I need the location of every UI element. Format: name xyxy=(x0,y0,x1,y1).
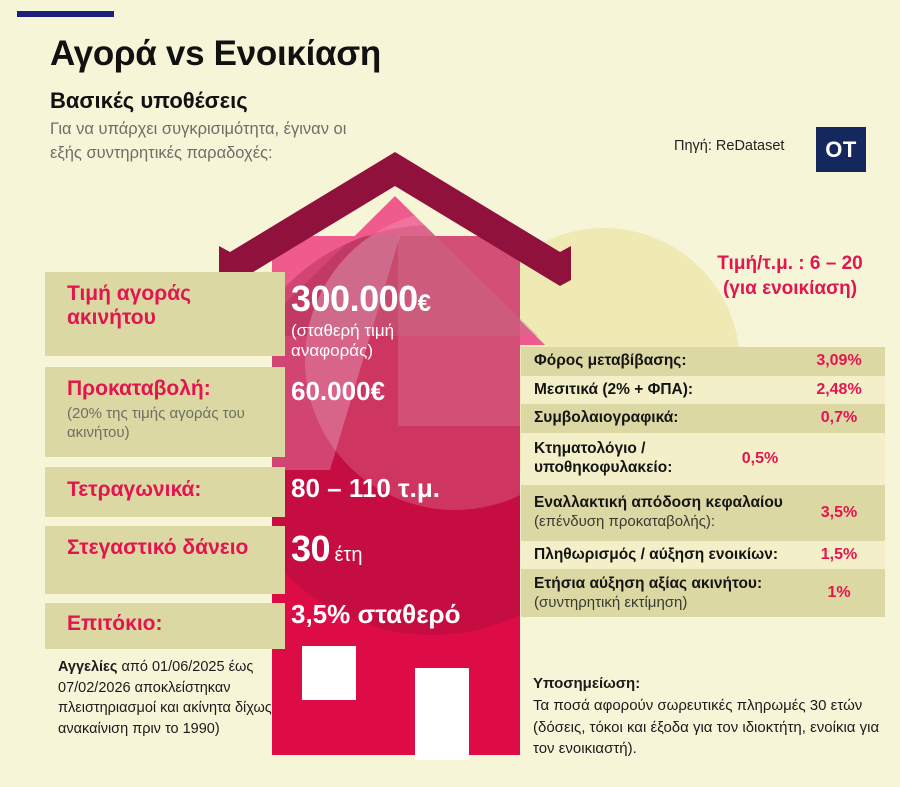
costs-table: Φόρος μεταβίβασης: 3,09% Μεσιτικά (2% + … xyxy=(521,347,885,617)
value-downpayment: 60.000 xyxy=(291,376,371,406)
table-row: Ετήσια αύξηση αξίας ακινήτου: (συντηρητι… xyxy=(521,569,885,617)
cost-value: 1% xyxy=(803,584,875,602)
table-row: Φόρος μεταβίβασης: 3,09% xyxy=(521,347,885,376)
source-label: Πηγή: ReDataset xyxy=(674,138,784,154)
intro-text: Για να υπάρχει συγκρισιμότητα, έγιναν οι… xyxy=(50,118,380,166)
assumption-sublabel: (20% της τιμής αγοράς του ακινήτου) xyxy=(67,404,271,442)
table-row: Εναλλακτική απόδοση κεφαλαίου (επένδυση … xyxy=(521,485,885,541)
cost-label: Κτηματολόγιο / υποθηκοφυλακείο: xyxy=(534,440,724,477)
cost-label-main: Εναλλακτική απόδοση κεφαλαίου xyxy=(534,494,783,511)
cost-label: Φόρος μεταβίβασης: xyxy=(534,352,803,371)
cost-value: 3,5% xyxy=(803,504,875,522)
assumption-label: Τιμή αγοράς ακινήτου xyxy=(67,282,271,330)
assumption-value: 60.000€ xyxy=(291,376,385,407)
cost-label: Συμβολαιογραφικά: xyxy=(534,409,803,428)
cost-value: 3,09% xyxy=(803,352,875,370)
table-row: Συμβολαιογραφικά: 0,7% xyxy=(521,404,885,433)
value-note: (σταθερή τιμή αναφοράς) xyxy=(291,321,436,362)
value-loan-years: 30 xyxy=(291,528,330,569)
assumption-label: Στεγαστικό δάνειο xyxy=(67,536,271,560)
cost-value: 0,5% xyxy=(724,450,796,468)
cost-label: Ετήσια αύξηση αξίας ακινήτου: (συντηρητι… xyxy=(534,575,803,612)
assumption-value: 80 – 110 τ.μ. xyxy=(291,473,440,504)
cost-label-paren: (επένδυση προκαταβολής): xyxy=(534,513,803,531)
cost-value: 2,48% xyxy=(803,381,875,399)
table-row: Πληθωρισμός / αύξηση ενοικίων: 1,5% xyxy=(521,541,885,570)
infographic-canvas: Αγορά vs Ενοικίαση Βασικές υποθέσεις Για… xyxy=(0,0,900,787)
currency-symbol: € xyxy=(371,376,385,406)
cost-value: 1,5% xyxy=(803,546,875,564)
cost-label-paren: (συντηρητική εκτίμηση) xyxy=(534,594,803,612)
cost-value: 0,7% xyxy=(803,409,875,427)
table-row: Κτηματολόγιο / υποθηκοφυλακείο: 0,5% xyxy=(521,433,885,485)
brand-logo: OT xyxy=(816,127,866,172)
callout-line-1: Τιμή/τ.μ. : 6 – 20 xyxy=(690,252,890,277)
footnote-left-bold: Αγγελίες xyxy=(58,659,117,675)
footnote-right-text: Τα ποσά αφορούν σωρευτικές πληρωμές 30 ε… xyxy=(533,697,879,758)
callout-line-2: (για ενοικίαση) xyxy=(690,277,890,302)
assumption-label: Τετραγωνικά: xyxy=(67,478,271,502)
footnote-right-bold: Υποσημείωση: xyxy=(533,675,640,692)
value-loan-unit: έτη xyxy=(335,544,363,566)
assumption-label: Επιτόκιο: xyxy=(67,612,271,636)
assumption-row: Επιτόκιο: xyxy=(45,603,285,649)
price-per-sqm-callout: Τιμή/τ.μ. : 6 – 20 (για ενοικίαση) xyxy=(690,252,890,301)
footnote-right: Υποσημείωση: Τα ποσά αφορούν σωρευτικές … xyxy=(533,673,885,760)
assumption-row: Προκαταβολή: (20% της τιμής αγοράς του α… xyxy=(45,367,285,457)
assumption-row: Τετραγωνικά: xyxy=(45,467,285,517)
page-subtitle: Βασικές υποθέσεις xyxy=(50,88,248,114)
assumption-value: 300.000€ (σταθερή τιμή αναφοράς) xyxy=(291,278,436,362)
table-row: Μεσιτικά (2% + ΦΠΑ): 2,48% xyxy=(521,376,885,405)
value-price: 300.000 xyxy=(291,278,418,319)
assumption-value: 3,5% σταθερό xyxy=(291,599,461,630)
footnote-left: Αγγελίες από 01/06/2025 έως 07/02/2026 α… xyxy=(58,657,273,739)
accent-bar xyxy=(17,11,114,17)
assumption-row: Τιμή αγοράς ακινήτου xyxy=(45,272,285,356)
cost-label-main: Ετήσια αύξηση αξίας ακινήτου: xyxy=(534,575,762,592)
value-sqm: 80 – 110 τ.μ. xyxy=(291,473,440,503)
assumption-label: Προκαταβολή: xyxy=(67,377,271,401)
cost-label: Πληθωρισμός / αύξηση ενοικίων: xyxy=(534,546,803,565)
cost-label: Εναλλακτική απόδοση κεφαλαίου (επένδυση … xyxy=(534,494,803,531)
assumption-value: 30 έτη xyxy=(291,528,362,570)
page-title: Αγορά vs Ενοικίαση xyxy=(50,34,381,74)
currency-symbol: € xyxy=(418,290,431,317)
cost-label: Μεσιτικά (2% + ΦΠΑ): xyxy=(534,381,803,400)
assumption-row: Στεγαστικό δάνειο xyxy=(45,526,285,594)
value-interest-rate: 3,5% σταθερό xyxy=(291,599,461,629)
